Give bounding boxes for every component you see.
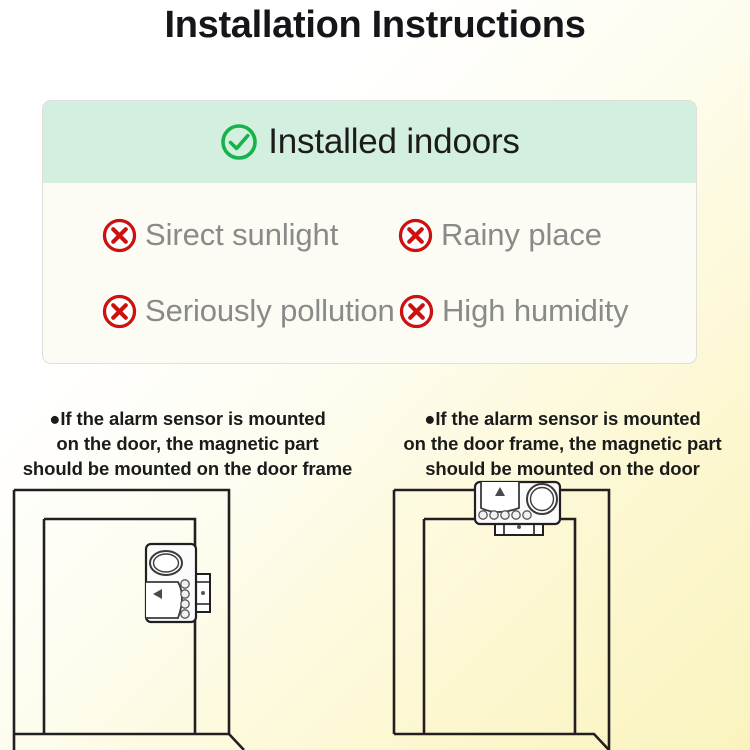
installed-indoors-header: Installed indoors xyxy=(43,101,696,183)
avoid-conditions-row: Seriously pollution High humidity xyxy=(43,273,696,349)
magnet-part xyxy=(196,574,210,612)
avoid-conditions-grid: Sirect sunlight Rainy place xyxy=(43,183,696,364)
x-circle-icon xyxy=(397,292,436,331)
mounting-caption: ●If the alarm sensor is mounted on the d… xyxy=(0,406,375,481)
mounting-instructions-section: ●If the alarm sensor is mounted on the d… xyxy=(0,400,750,750)
installation-instructions-page: Installation Instructions Installed indo… xyxy=(0,0,750,750)
avoid-item-label: Rainy place xyxy=(441,217,602,253)
mounting-caption: ●If the alarm sensor is mounted on the d… xyxy=(375,406,750,481)
mounting-caption-line-1: ●If the alarm sensor is mounted xyxy=(375,406,750,431)
mounting-option-sensor-on-frame: ●If the alarm sensor is mounted on the d… xyxy=(375,400,750,750)
installation-conditions-card: Installed indoors Sirect sunlight xyxy=(42,100,697,364)
mounting-caption-line-2: on the door, the magnetic part xyxy=(0,431,375,456)
x-circle-icon xyxy=(396,216,435,255)
x-circle-icon xyxy=(100,216,139,255)
avoid-item-label: Sirect sunlight xyxy=(145,217,338,253)
avoid-item-label: Seriously pollution xyxy=(145,293,395,329)
alarm-sensor-body xyxy=(475,482,560,524)
x-circle-icon xyxy=(100,292,139,331)
avoid-item-label: High humidity xyxy=(442,293,629,329)
avoid-item: Sirect sunlight xyxy=(43,216,372,255)
mounting-caption-line-2: on the door frame, the magnetic part xyxy=(375,431,750,456)
avoid-item: Seriously pollution xyxy=(43,292,373,331)
installed-indoors-label: Installed indoors xyxy=(268,122,519,162)
mounting-caption-line-1: ●If the alarm sensor is mounted xyxy=(0,406,375,431)
page-title: Installation Instructions xyxy=(0,2,750,48)
avoid-item: Rainy place xyxy=(372,216,696,255)
avoid-conditions-row: Sirect sunlight Rainy place xyxy=(43,197,696,273)
check-circle-icon xyxy=(219,122,259,162)
door-with-sensor-on-door-diagram xyxy=(0,478,375,750)
alarm-sensor-body xyxy=(146,544,196,622)
door-with-sensor-on-frame-diagram xyxy=(375,478,750,750)
avoid-item: High humidity xyxy=(373,292,696,331)
mounting-option-sensor-on-door: ●If the alarm sensor is mounted on the d… xyxy=(0,400,375,750)
